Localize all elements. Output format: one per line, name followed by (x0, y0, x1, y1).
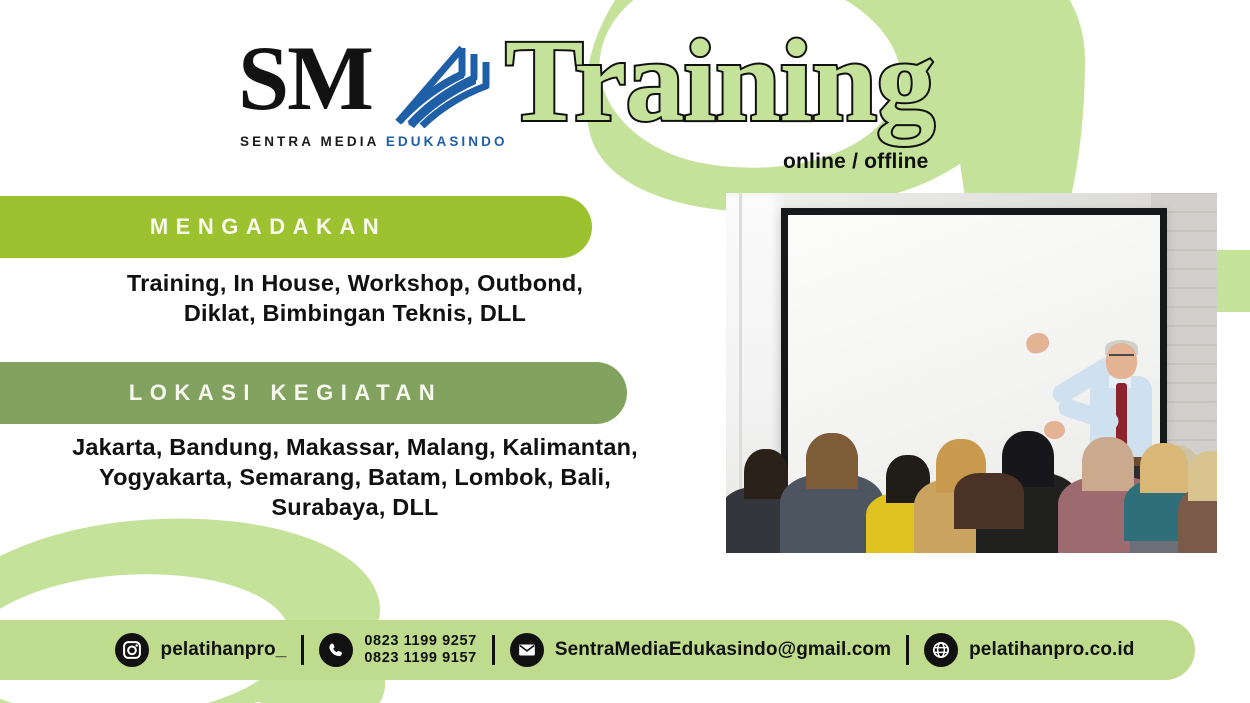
page-subtitle: online / offline (783, 150, 929, 174)
logo-mark: SM (236, 36, 496, 131)
locations-line: Yogyakarta, Semarang, Batam, Lombok, Bal… (0, 462, 710, 492)
contact-website[interactable]: pelatihanpro.co.id (924, 633, 1134, 667)
services-line: Training, In House, Workshop, Outbond, (0, 268, 710, 298)
locations-line: Jakarta, Bandung, Makassar, Malang, Kali… (0, 432, 710, 462)
contact-phone[interactable]: 0823 1199 9257 0823 1199 9157 (319, 633, 476, 667)
company-logo: SM SENTRA MEDIA EDUKASINDO (236, 36, 496, 156)
photo-presenter-glasses (1109, 354, 1134, 361)
open-book-icon (388, 40, 494, 133)
phone-number-2: 0823 1199 9157 (364, 650, 476, 667)
logo-wordmark: SENTRA MEDIA EDUKASINDO (240, 134, 496, 149)
locations-list: Jakarta, Bandung, Makassar, Malang, Kali… (0, 432, 710, 522)
page-title: Training (505, 22, 934, 140)
phone-numbers: 0823 1199 9257 0823 1199 9157 (364, 633, 476, 667)
contact-divider (301, 635, 304, 665)
services-line: Diklat, Bimbingan Teknis, DLL (0, 298, 710, 328)
photo-audience (726, 425, 1217, 553)
logo-monogram: SM (238, 32, 372, 124)
contact-email[interactable]: SentraMediaEdukasindo@gmail.com (510, 633, 891, 667)
services-list: Training, In House, Workshop, Outbond, D… (0, 268, 710, 328)
logo-word-primary: SENTRA MEDIA (240, 134, 386, 149)
globe-icon (924, 633, 958, 667)
phone-icon (319, 633, 353, 667)
section-label-lokasi-kegiatan: LOKASI KEGIATAN (0, 362, 627, 424)
email-address: SentraMediaEdukasindo@gmail.com (555, 639, 891, 661)
website-url: pelatihanpro.co.id (969, 639, 1134, 661)
phone-number-1: 0823 1199 9257 (364, 633, 476, 650)
contact-divider (492, 635, 495, 665)
photo-presenter-head (1106, 343, 1137, 379)
locations-line: Surabaya, DLL (0, 492, 710, 522)
contact-instagram[interactable]: pelatihanpro_ (115, 633, 286, 667)
training-photo (726, 193, 1217, 553)
envelope-icon (510, 633, 544, 667)
contact-bar: pelatihanpro_ 0823 1199 9257 0823 1199 9… (0, 620, 1250, 680)
instagram-handle: pelatihanpro_ (160, 639, 286, 661)
instagram-icon (115, 633, 149, 667)
section-label-mengadakan: MENGADAKAN (0, 196, 592, 258)
logo-word-secondary: EDUKASINDO (386, 134, 508, 149)
decor-tab-right-edge (1215, 250, 1250, 312)
contact-divider (906, 635, 909, 665)
training-promo-banner: SM SENTRA MEDIA EDUKASINDO (0, 0, 1250, 703)
